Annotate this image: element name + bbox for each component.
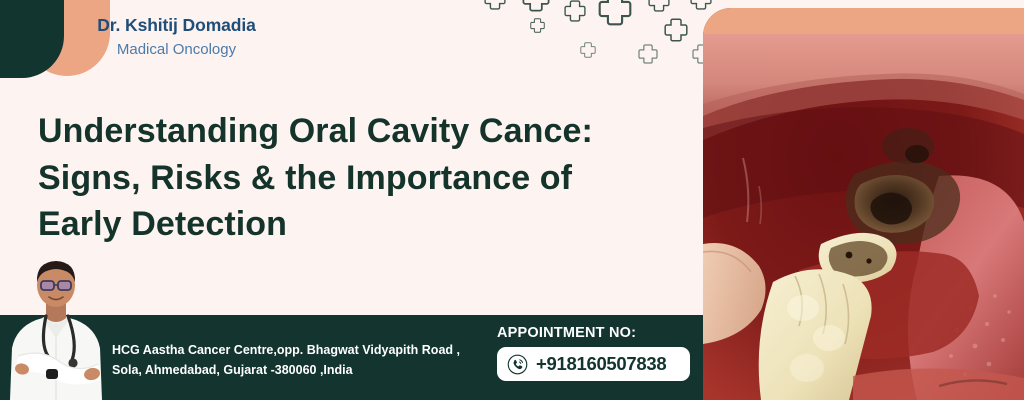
oral-cavity-clinical-photo [703, 8, 1024, 400]
banner-root: Dr. Kshitij Domadia Madical Oncology [0, 0, 1024, 400]
headline-line-1: Understanding Oral Cavity Cance: [38, 108, 648, 155]
page-title: Understanding Oral Cavity Cance: Signs, … [38, 108, 648, 248]
appointment-block: APPOINTMENT NO: +918160507838 [497, 325, 690, 381]
phone-call-icon [507, 354, 528, 375]
clinic-address: HCG Aastha Cancer Centre,opp. Bhagwat Vi… [112, 340, 482, 381]
address-line-1: HCG Aastha Cancer Centre,opp. Bhagwat Vi… [112, 340, 482, 360]
doctor-name: Dr. Kshitij Domadia [84, 14, 269, 38]
appointment-phone-pill[interactable]: +918160507838 [497, 347, 690, 381]
doctor-portrait [2, 252, 110, 400]
address-line-2: Sola, Ahmedabad, Gujarat -380060 ,India [112, 360, 482, 380]
headline-line-3: Early Detection [38, 201, 648, 248]
headline-line-2: Signs, Risks & the Importance of [38, 155, 648, 202]
brand-block: Dr. Kshitij Domadia Madical Oncology [84, 14, 269, 60]
appointment-number: +918160507838 [536, 353, 666, 375]
appointment-label: APPOINTMENT NO: [497, 325, 690, 341]
photo-top-strip [703, 8, 1024, 34]
doctor-specialty: Madical Oncology [84, 39, 269, 61]
